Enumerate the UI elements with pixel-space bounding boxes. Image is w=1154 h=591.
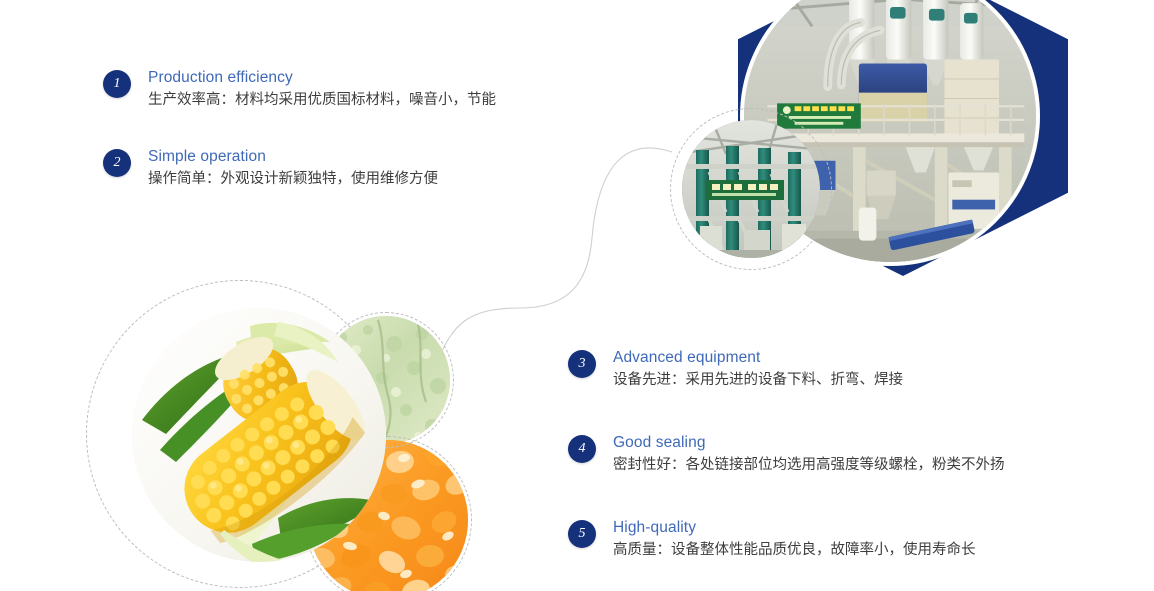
feature-badge-3: 3 xyxy=(568,350,596,378)
feature-desc-4: 密封性好：各处链接部位均选用高强度等级螺栓，粉类不外扬 xyxy=(613,454,1005,476)
feature-list-left: 1 Production efficiency 生产效率高：材料均采用优质国标材… xyxy=(103,68,573,226)
feature-desc-3: 设备先进：采用先进的设备下料、折弯、焊接 xyxy=(613,369,903,391)
feature-infographic: 1 Production efficiency 生产效率高：材料均采用优质国标材… xyxy=(0,0,1154,591)
feature-item-5[interactable]: 5 High-quality 高质量：设备整体性能品质优良，故障率小，使用寿命长 xyxy=(568,518,1088,561)
feature-badge-2: 2 xyxy=(103,149,131,177)
feature-desc-1: 生产效率高：材料均采用优质国标材料，噪音小，节能 xyxy=(148,89,496,111)
corn-image-cluster xyxy=(86,282,476,591)
feature-text-3: Advanced equipment 设备先进：采用先进的设备下料、折弯、焊接 xyxy=(613,348,903,391)
feature-text-2: Simple operation 操作简单：外观设计新颖独特，使用维修方便 xyxy=(148,147,438,190)
feature-desc-5: 高质量：设备整体性能品质优良，故障率小，使用寿命长 xyxy=(613,539,976,561)
feature-desc-2: 操作简单：外观设计新颖独特，使用维修方便 xyxy=(148,168,438,190)
feature-item-3[interactable]: 3 Advanced equipment 设备先进：采用先进的设备下料、折弯、焊… xyxy=(568,348,1088,391)
corn-cob-photo xyxy=(132,308,386,562)
feature-item-2[interactable]: 2 Simple operation 操作简单：外观设计新颖独特，使用维修方便 xyxy=(103,147,573,190)
feature-badge-1: 1 xyxy=(103,70,131,98)
feature-badge-5: 5 xyxy=(568,520,596,548)
feature-title-4: Good sealing xyxy=(613,433,1005,453)
feature-title-2: Simple operation xyxy=(148,147,438,167)
green-milling-equipment-photo xyxy=(682,120,820,258)
feature-list-right: 3 Advanced equipment 设备先进：采用先进的设备下料、折弯、焊… xyxy=(568,348,1088,591)
machinery-image-cluster xyxy=(660,0,1080,276)
feature-item-4[interactable]: 4 Good sealing 密封性好：各处链接部位均选用高强度等级螺栓，粉类不… xyxy=(568,433,1088,476)
feature-item-1[interactable]: 1 Production efficiency 生产效率高：材料均采用优质国标材… xyxy=(103,68,573,111)
feature-text-4: Good sealing 密封性好：各处链接部位均选用高强度等级螺栓，粉类不外扬 xyxy=(613,433,1005,476)
feature-text-1: Production efficiency 生产效率高：材料均采用优质国标材料，… xyxy=(148,68,496,111)
feature-title-3: Advanced equipment xyxy=(613,348,903,368)
feature-title-1: Production efficiency xyxy=(148,68,496,88)
feature-badge-4: 4 xyxy=(568,435,596,463)
feature-text-5: High-quality 高质量：设备整体性能品质优良，故障率小，使用寿命长 xyxy=(613,518,976,561)
feature-title-5: High-quality xyxy=(613,518,976,538)
